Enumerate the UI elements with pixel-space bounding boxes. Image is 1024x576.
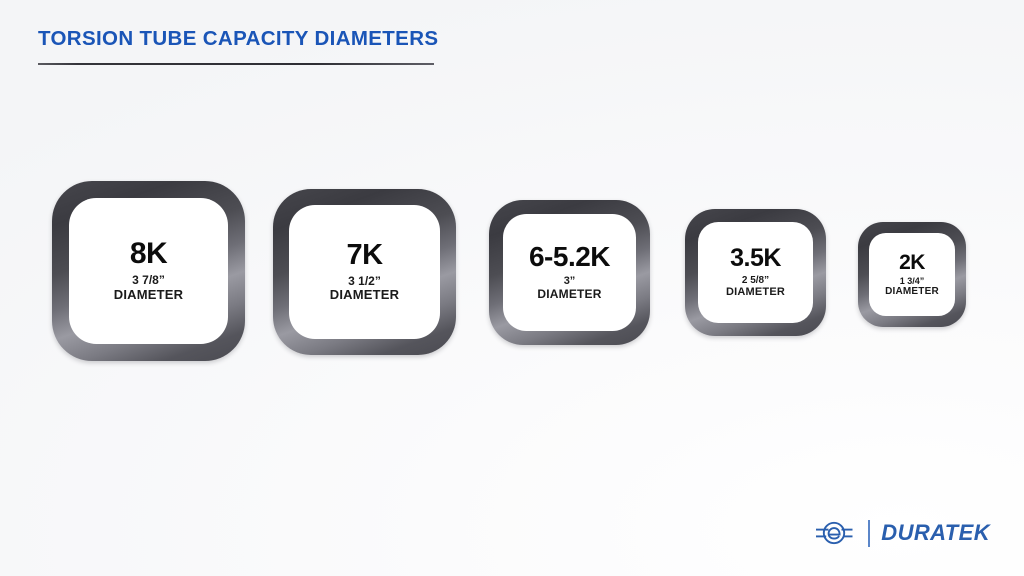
tube-diameter-value: 1 3/4” [900,276,925,286]
tube-diameter-value: 2 5/8” [742,275,769,287]
tube-capacity-label: 7K [346,241,382,270]
slide-canvas: TORSION TUBE CAPACITY DIAMETERS 8K3 7/8”… [0,0,1024,576]
tube-diameter-word: DIAMETER [726,286,785,299]
duratek-circle-mark-icon [811,518,857,548]
brand-logo: DURATEK [811,518,990,548]
logo-divider [868,520,870,547]
tube-diagram-row: 8K3 7/8”DIAMETER7K3 1/2”DIAMETER6-5.2K3”… [0,0,1024,576]
tube-diameter-word: DIAMETER [330,288,400,303]
tube-diameter-word: DIAMETER [885,286,939,298]
tube-card-face: 8K3 7/8”DIAMETER [69,198,228,344]
tube-card-face: 3.5K2 5/8”DIAMETER [698,222,813,323]
tube-size-card: 3.5K2 5/8”DIAMETER [685,209,826,336]
tube-capacity-label: 2K [899,252,925,273]
tube-card-face: 6-5.2K3”DIAMETER [503,214,636,331]
tube-size-card: 2K1 3/4”DIAMETER [858,222,966,327]
tube-capacity-label: 8K [130,239,167,269]
tube-size-card: 6-5.2K3”DIAMETER [489,200,650,345]
tube-capacity-label: 3.5K [730,246,781,271]
tube-diameter-value: 3 7/8” [132,274,165,288]
tube-card-face: 7K3 1/2”DIAMETER [289,205,440,339]
tube-diameter-word: DIAMETER [114,288,184,303]
tube-capacity-label: 6-5.2K [529,243,610,271]
tube-diameter-value: 3 1/2” [348,275,381,289]
brand-name: DURATEK [881,522,990,544]
tube-size-card: 8K3 7/8”DIAMETER [52,181,245,361]
tube-size-card: 7K3 1/2”DIAMETER [273,189,456,355]
tube-card-face: 2K1 3/4”DIAMETER [869,233,955,316]
tube-diameter-word: DIAMETER [537,288,601,302]
